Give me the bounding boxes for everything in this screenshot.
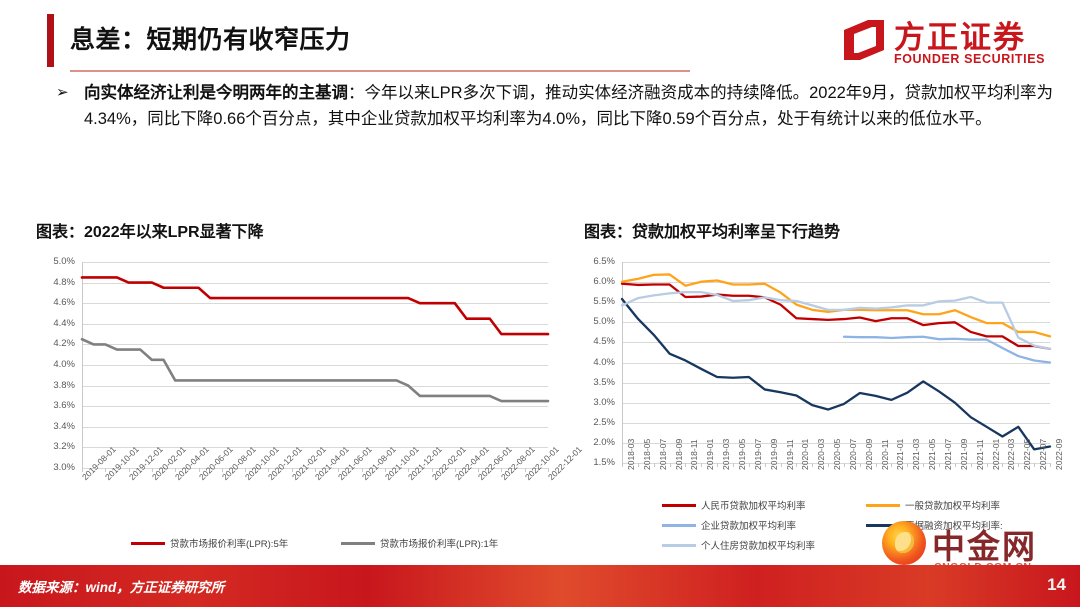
x-axis-tick-label: 2018-09: [674, 439, 684, 470]
legend-item[interactable]: 人民币贷款加权平均利率: [662, 498, 806, 512]
x-axis-tick-mark: [812, 463, 813, 467]
legend-item[interactable]: 一般贷款加权平均利率: [866, 498, 1000, 512]
x-axis-tick-label: 2020-03: [816, 439, 826, 470]
x-axis-tick-mark: [971, 463, 972, 467]
chart-series-layer: [36, 258, 556, 468]
x-axis-tick-label: 2018-03: [626, 439, 636, 470]
x-axis-tick-label: 2020-11: [880, 439, 890, 470]
x-axis-tick-mark: [749, 463, 750, 467]
x-axis-tick-label: 2019-11: [785, 439, 795, 470]
x-axis-tick-mark: [622, 463, 623, 467]
x-axis-tick-mark: [685, 463, 686, 467]
x-axis-tick-mark: [923, 463, 924, 467]
legend-color-swatch: [341, 542, 375, 545]
legend-color-swatch: [662, 504, 696, 507]
chart-plot-lpr: 3.0%3.2%3.4%3.6%3.8%4.0%4.2%4.4%4.6%4.8%…: [36, 258, 556, 468]
page-title: 息差：短期仍有收窄压力: [70, 20, 351, 56]
chart-title-loan-rate: 图表：贷款加权平均利率呈下行趋势: [584, 218, 1080, 242]
x-axis-tick-mark: [1018, 463, 1019, 467]
series-line: [622, 299, 1050, 449]
series-line: [844, 337, 1050, 363]
founder-diamond-icon: [842, 18, 886, 62]
x-axis-tick-mark: [701, 463, 702, 467]
x-axis-tick-label: 2021-03: [911, 439, 921, 470]
logo-english-name: FOUNDER SECURITIES: [894, 52, 1045, 66]
legend-label: 企业贷款加权平均利率: [701, 521, 796, 532]
x-axis-tick-label: 2020-07: [848, 439, 858, 470]
x-axis-tick-label: 2018-07: [658, 439, 668, 470]
x-axis-tick-mark: [987, 463, 988, 467]
bullet-lead-text: 向实体经济让利是今明两年的主基调: [84, 84, 348, 102]
x-axis-tick-label: 2022-05: [1022, 439, 1032, 470]
slide-root: 息差：短期仍有收窄压力 方正证券 FOUNDER SECURITIES ➢ 向实…: [0, 0, 1080, 607]
founder-securities-logo: 方正证券 FOUNDER SECURITIES: [842, 12, 1058, 70]
x-axis-tick-mark: [860, 463, 861, 467]
x-axis-tick-mark: [1002, 463, 1003, 467]
x-axis-tick-mark: [1034, 463, 1035, 467]
legend-color-swatch: [662, 544, 696, 547]
legend-label: 个人住房贷款加权平均利率: [701, 541, 815, 552]
slide-header: 息差：短期仍有收窄压力 方正证券 FOUNDER SECURITIES: [0, 0, 1080, 78]
legend-label: 贷款市场报价利率(LPR):1年: [380, 539, 498, 550]
chart-series-layer: [584, 258, 1056, 463]
legend-item[interactable]: 贷款市场报价利率(LPR):1年: [341, 536, 498, 550]
x-axis-tick-mark: [955, 463, 956, 467]
x-axis-tick-label: 2018-11: [689, 439, 699, 470]
x-axis-tick-label: 2019-05: [737, 439, 747, 470]
logo-chinese-name: 方正证券: [894, 12, 1026, 57]
x-axis-tick-label: 2022-01: [991, 439, 1001, 470]
chart-title-lpr: 图表：2022年以来LPR显著下降: [36, 218, 556, 242]
x-axis-tick-label: 2021-05: [927, 439, 937, 470]
x-axis-tick-label: 2019-01: [705, 439, 715, 470]
x-axis-tick-label: 2021-01: [895, 439, 905, 470]
x-axis-tick-mark: [781, 463, 782, 467]
x-axis-tick-label: 2019-09: [769, 439, 779, 470]
header-divider: [70, 70, 690, 72]
chart-legend-lpr: 贷款市场报价利率(LPR):5年贷款市场报价利率(LPR):1年: [36, 536, 556, 552]
x-axis-tick-mark: [907, 463, 908, 467]
legend-color-swatch: [662, 524, 696, 527]
x-axis-tick-mark: [733, 463, 734, 467]
legend-item[interactable]: 企业贷款加权平均利率: [662, 518, 796, 532]
data-source-label: 数据来源：wind，方正证券研究所: [18, 576, 224, 596]
x-axis-tick-label: 2019-07: [753, 439, 763, 470]
x-axis-tick-mark: [844, 463, 845, 467]
legend-color-swatch: [131, 542, 165, 545]
x-axis-tick-mark: [717, 463, 718, 467]
x-axis-tick-mark: [670, 463, 671, 467]
x-axis-tick-label: 2021-11: [975, 439, 985, 470]
x-axis-tick-mark: [1050, 463, 1051, 467]
header-accent-bar: [47, 14, 54, 67]
x-axis-tick-label: 2018-05: [642, 439, 652, 470]
x-axis-tick-mark: [796, 463, 797, 467]
x-axis-tick-label: 2020-05: [832, 439, 842, 470]
x-axis-tick-label: 2020-09: [864, 439, 874, 470]
x-axis-tick-mark: [876, 463, 877, 467]
slide-footer: 数据来源：wind，方正证券研究所 14: [0, 565, 1080, 607]
chart-panel-lpr: 图表：2022年以来LPR显著下降 3.0%3.2%3.4%3.6%3.8%4.…: [36, 218, 556, 548]
legend-label: 人民币贷款加权平均利率: [701, 501, 806, 512]
chart-plot-loan-rate: 1.5%2.0%2.5%3.0%3.5%4.0%4.5%5.0%5.5%6.0%…: [584, 258, 1056, 463]
x-axis-tick-label: 2022-09: [1054, 439, 1064, 470]
x-axis-tick-mark: [765, 463, 766, 467]
series-line: [82, 277, 548, 334]
bullet-block: ➢ 向实体经济让利是今明两年的主基调：今年以来LPR多次下调，推动实体经济融资成…: [56, 80, 1056, 132]
x-axis-tick-label: 2022-03: [1006, 439, 1016, 470]
bullet-arrow-icon: ➢: [56, 83, 69, 101]
x-axis-tick-label: 2019-03: [721, 439, 731, 470]
cngold-logo-icon: [882, 521, 926, 565]
page-number: 14: [1047, 575, 1066, 595]
series-line: [622, 274, 1050, 336]
chart-panel-loan-rate: 图表：贷款加权平均利率呈下行趋势 1.5%2.0%2.5%3.0%3.5%4.0…: [584, 218, 1080, 548]
legend-color-swatch: [866, 504, 900, 507]
x-axis-tick-label: 2022-07: [1038, 439, 1048, 470]
x-axis-tick-mark: [891, 463, 892, 467]
legend-item[interactable]: 贷款市场报价利率(LPR):5年: [131, 536, 288, 550]
x-axis-tick-label: 2021-09: [959, 439, 969, 470]
legend-label: 贷款市场报价利率(LPR):5年: [170, 539, 288, 550]
bullet-paragraph: 向实体经济让利是今明两年的主基调：今年以来LPR多次下调，推动实体经济融资成本的…: [84, 80, 1056, 132]
x-axis-tick-label: 2020-01: [800, 439, 810, 470]
series-line: [82, 339, 548, 401]
x-axis-tick-mark: [638, 463, 639, 467]
legend-item[interactable]: 个人住房贷款加权平均利率: [662, 538, 815, 552]
x-axis-tick-mark: [828, 463, 829, 467]
x-axis-tick-label: 2021-07: [943, 439, 953, 470]
x-axis-tick-mark: [654, 463, 655, 467]
legend-label: 一般贷款加权平均利率: [905, 501, 1000, 512]
x-axis-tick-mark: [939, 463, 940, 467]
